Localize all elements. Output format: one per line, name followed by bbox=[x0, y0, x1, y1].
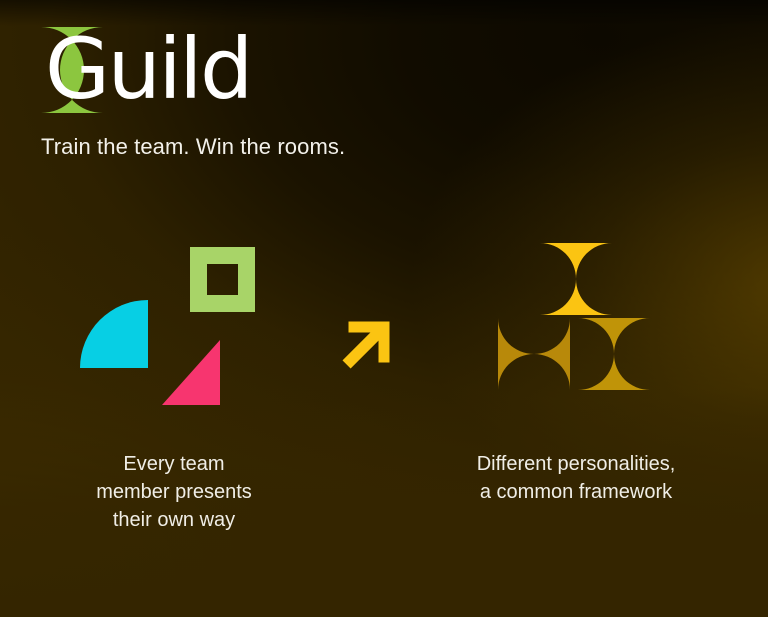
caption-left-line-3: their own way bbox=[64, 506, 284, 534]
caption-left: Every team member presents their own way bbox=[64, 450, 284, 534]
logo-wordmark: Guild bbox=[45, 23, 251, 115]
slide-canvas: Guild Train the team. Win the rooms. Eve… bbox=[0, 0, 768, 617]
caption-left-line-1: Every team bbox=[64, 450, 284, 478]
logo-lockup: Guild bbox=[41, 25, 341, 117]
caption-right-line-1: Different personalities, bbox=[440, 450, 712, 478]
caption-left-line-2: member presents bbox=[64, 478, 284, 506]
caption-right: Different personalities, a common framew… bbox=[440, 450, 712, 506]
caption-right-line-2: a common framework bbox=[440, 478, 712, 506]
tagline: Train the team. Win the rooms. bbox=[41, 132, 345, 162]
